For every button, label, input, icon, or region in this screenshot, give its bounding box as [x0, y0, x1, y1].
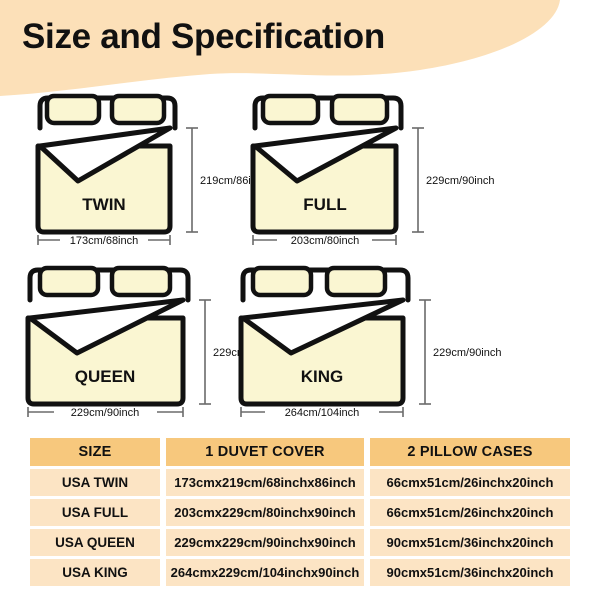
- dimension-height-queen: [199, 300, 211, 404]
- table-header-size: SIZE: [30, 438, 160, 466]
- bed-label-king: KING: [301, 367, 344, 386]
- table-cell-pillow: 90cmx51cm/36inchx20inch: [370, 559, 570, 586]
- dimension-width-label-full: 203cm/80inch: [291, 235, 360, 247]
- dimension-height-king: [419, 300, 431, 404]
- table-cell-size: USA FULL: [30, 499, 160, 526]
- table-row: USA FULL 203cmx229cm/80inchx90inch 66cmx…: [30, 499, 570, 526]
- pillow-left-twin: [47, 96, 99, 123]
- table-cell-duvet: 264cmx229cm/104inchx90inch: [166, 559, 364, 586]
- table-cell-pillow: 66cmx51cm/26inchx20inch: [370, 499, 570, 526]
- table-row: USA QUEEN 229cmx229cm/90inchx90inch 90cm…: [30, 529, 570, 556]
- table-cell-size: USA TWIN: [30, 469, 160, 496]
- pillow-right-twin: [112, 96, 164, 123]
- bed-label-queen: QUEEN: [75, 367, 135, 386]
- table-row: USA TWIN 173cmx219cm/68inchx86inch 66cmx…: [30, 469, 570, 496]
- table-cell-duvet: 203cmx229cm/80inchx90inch: [166, 499, 364, 526]
- pillow-right-full: [332, 96, 387, 123]
- table-cell-duvet: 173cmx219cm/68inchx86inch: [166, 469, 364, 496]
- bed-diagram-full: FULL 229cm/90inch 203cm/80inch: [215, 88, 515, 260]
- dimension-height-label-king: 229cm/90inch: [433, 347, 502, 359]
- bed-label-full: FULL: [303, 195, 346, 214]
- table-header-pillow: 2 PILLOW CASES: [370, 438, 570, 466]
- table-cell-size: USA KING: [30, 559, 160, 586]
- pillow-left-full: [263, 96, 318, 123]
- table-row: USA KING 264cmx229cm/104inchx90inch 90cm…: [30, 559, 570, 586]
- specification-table: SIZE 1 DUVET COVER 2 PILLOW CASES USA TW…: [30, 438, 570, 589]
- dimension-height-full: [412, 128, 424, 232]
- dimension-height-label-full: 229cm/90inch: [426, 175, 495, 187]
- pillow-right-queen: [112, 268, 170, 295]
- dimension-width-label-queen: 229cm/90inch: [71, 407, 140, 419]
- pillow-left-queen: [40, 268, 98, 295]
- bed-diagram-grid: TWIN 219cm/86inch 173cm/68inch: [0, 88, 600, 433]
- dimension-height-twin: [186, 128, 198, 232]
- bed-diagram-king: KING 229cm/90inch 264cm/104inch: [215, 260, 515, 432]
- table-cell-duvet: 229cmx229cm/90inchx90inch: [166, 529, 364, 556]
- pillow-left-king: [253, 268, 311, 295]
- dimension-width-label-twin: 173cm/68inch: [70, 235, 139, 247]
- table-cell-pillow: 66cmx51cm/26inchx20inch: [370, 469, 570, 496]
- pillow-right-king: [327, 268, 385, 295]
- table-header-duvet: 1 DUVET COVER: [166, 438, 364, 466]
- table-cell-pillow: 90cmx51cm/36inchx20inch: [370, 529, 570, 556]
- page-title: Size and Specification: [22, 17, 385, 57]
- bed-label-twin: TWIN: [82, 195, 125, 214]
- dimension-width-label-king: 264cm/104inch: [285, 407, 360, 419]
- table-cell-size: USA QUEEN: [30, 529, 160, 556]
- table-header-row: SIZE 1 DUVET COVER 2 PILLOW CASES: [30, 438, 570, 466]
